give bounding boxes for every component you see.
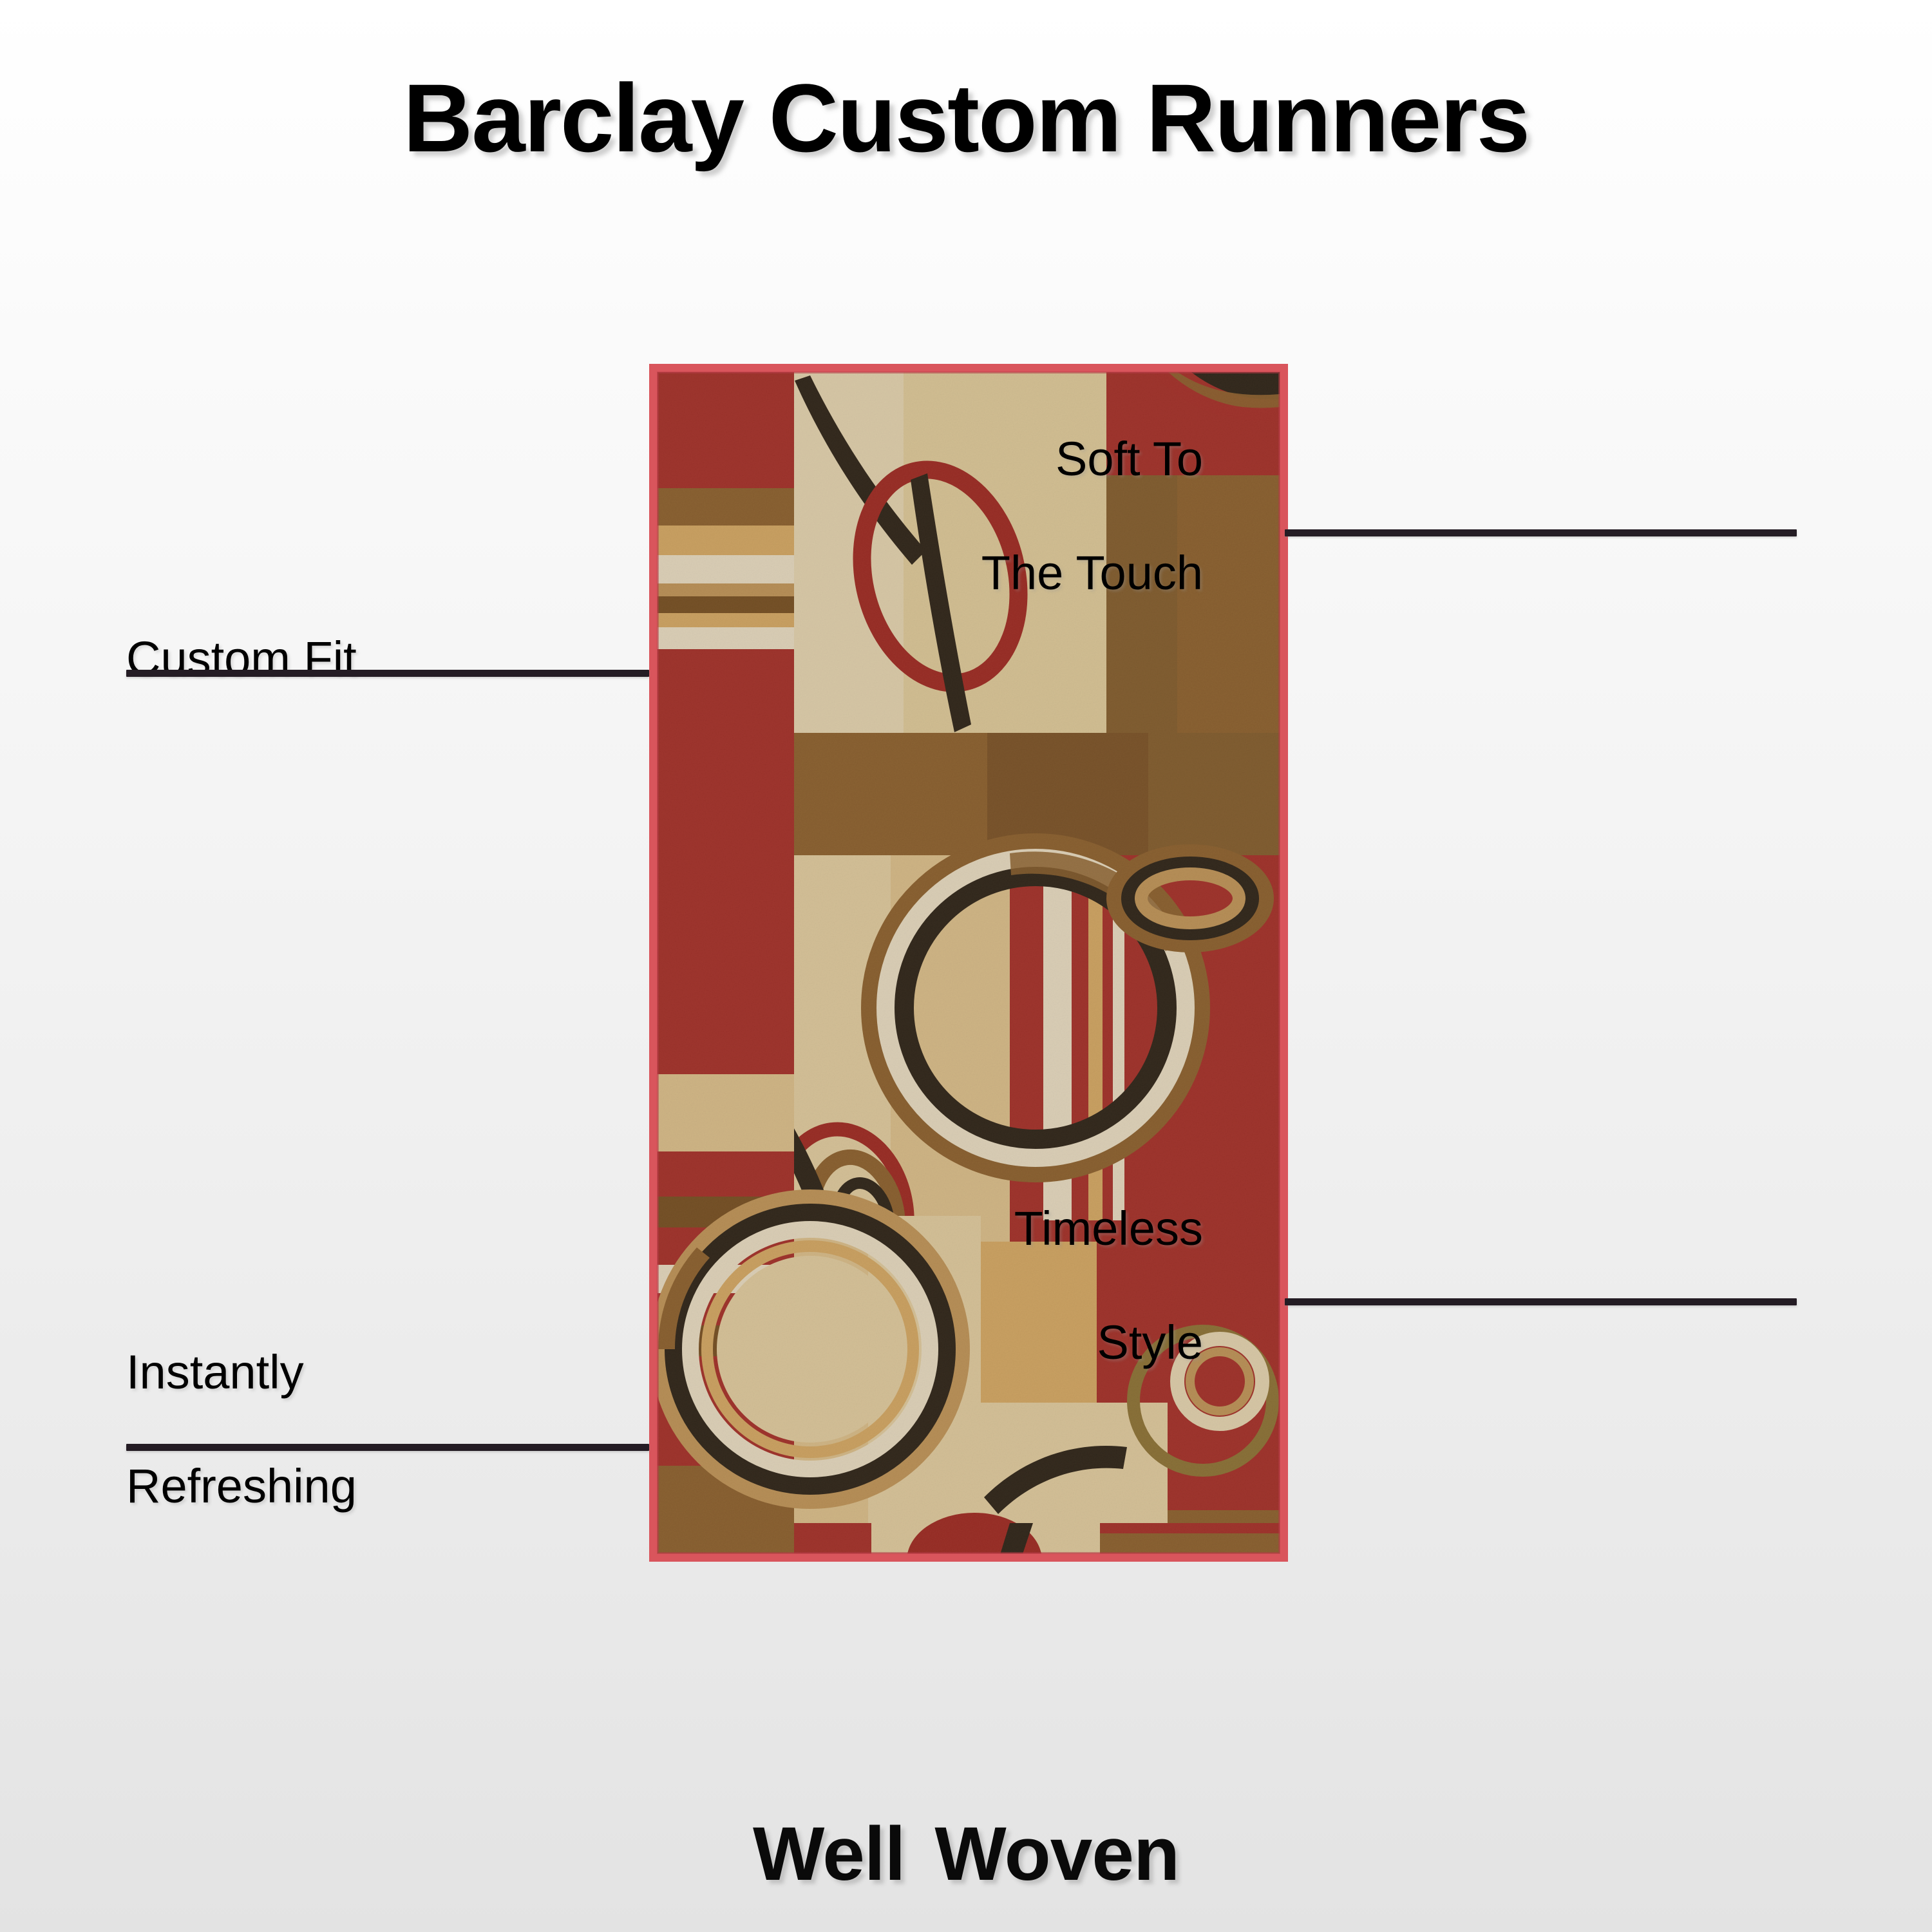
callout-rule-custom-fit	[126, 670, 649, 677]
callout-line-1: Instantly	[126, 1344, 641, 1401]
callout-line-1: Custom Fit	[126, 630, 641, 688]
callout-label-timeless-style: Timeless Style	[791, 1143, 1203, 1429]
callout-label-instantly-refreshing: Instantly Refreshing	[126, 1287, 641, 1573]
callout-line-2: The Touch	[791, 545, 1203, 602]
callout-line-1: Timeless	[791, 1200, 1203, 1258]
page-title: Barclay Custom Runners	[0, 70, 1932, 166]
callout-rule-soft-to-the-touch	[1285, 529, 1797, 536]
brand-word-well: Well	[753, 1812, 905, 1897]
brand-word-woven: Woven	[934, 1812, 1179, 1897]
callout-label-soft-to-the-touch: Soft To The Touch	[791, 374, 1203, 659]
callout-rule-instantly-refreshing	[126, 1444, 649, 1451]
callout-line-2: Refreshing	[126, 1458, 641, 1515]
callout-line-2: Style	[791, 1314, 1203, 1372]
callout-line-1: Soft To	[791, 431, 1203, 488]
callout-rule-timeless-style	[1285, 1298, 1797, 1305]
brand-wordmark: WellWoven	[0, 1816, 1932, 1892]
callout-label-custom-fit: Custom Fit	[126, 573, 641, 744]
